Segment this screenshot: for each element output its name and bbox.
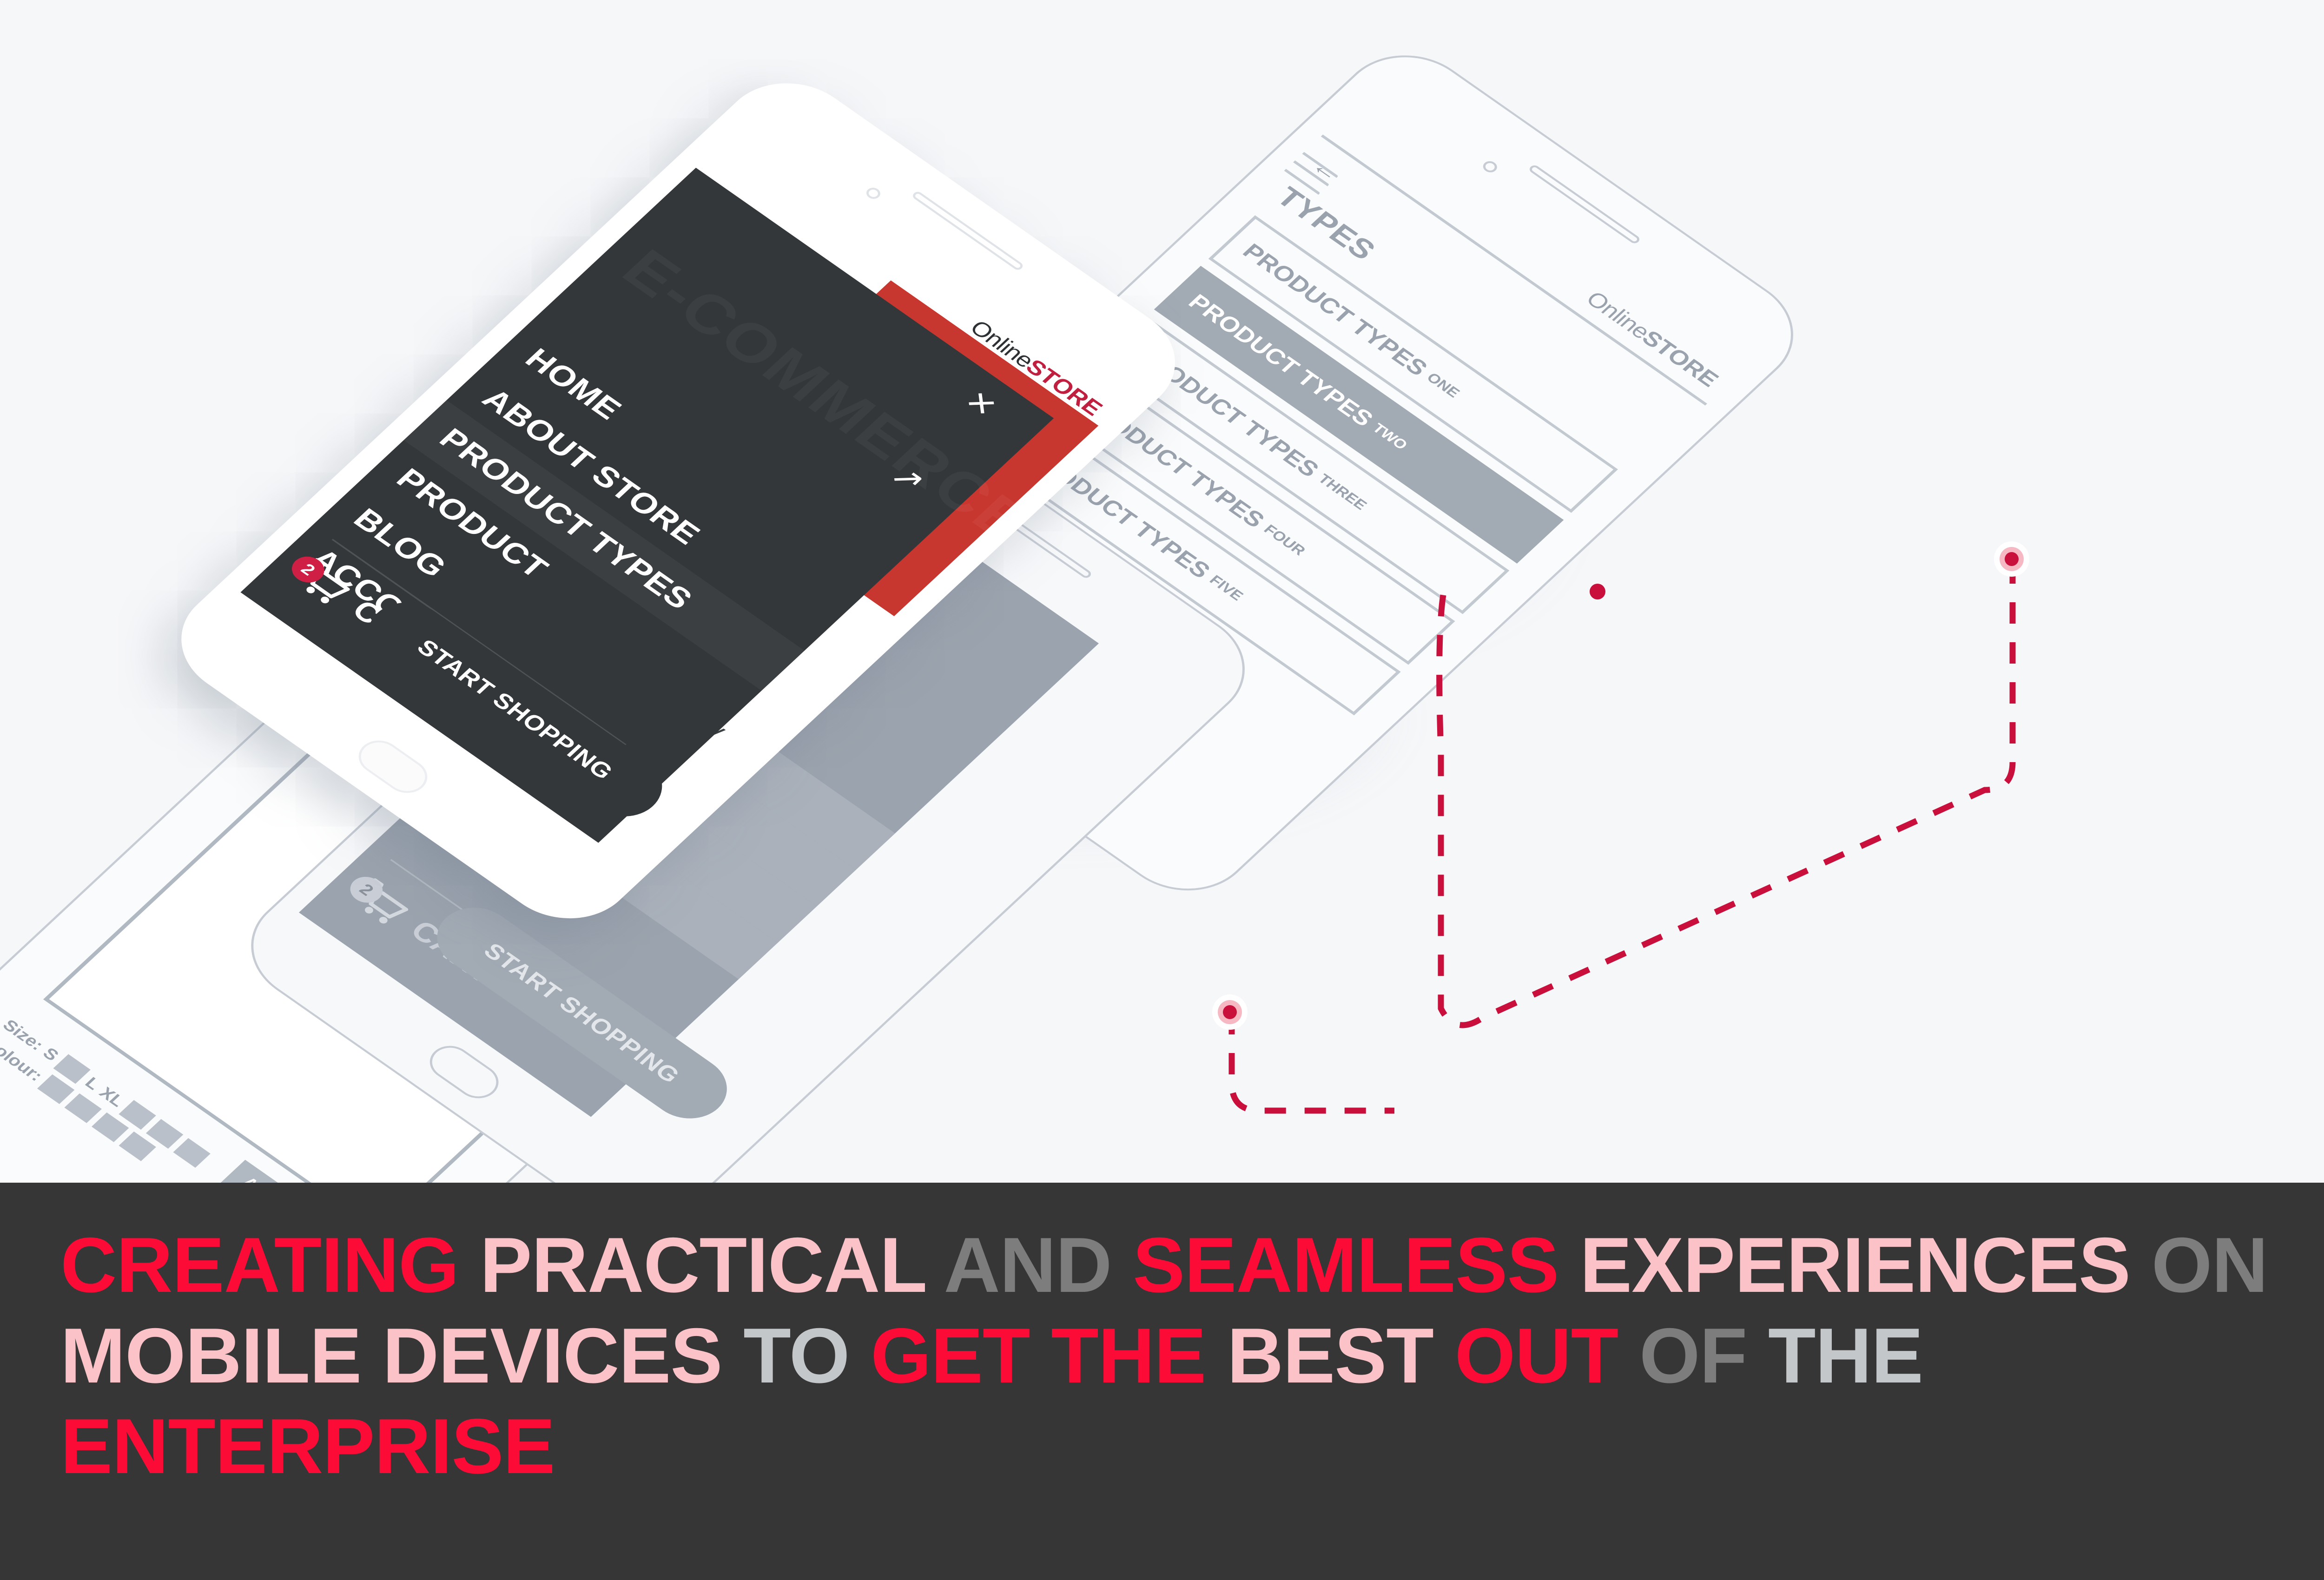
size-option-l[interactable]: L <box>81 1074 104 1093</box>
tagline-word: ON <box>2152 1221 2268 1309</box>
tagline-word: OUT <box>1455 1312 1618 1399</box>
row-suffix: FIVE <box>1206 572 1247 604</box>
speaker-grill-icon <box>911 190 1025 271</box>
row-suffix: ONE <box>1423 369 1463 401</box>
logo-prefix: Online <box>1581 287 1656 343</box>
front-camera-icon <box>864 185 883 201</box>
store-logo[interactable]: OnlineSTORE <box>1581 287 1724 392</box>
close-icon[interactable]: ✕ <box>959 386 1003 422</box>
tagline-word: THE <box>1768 1312 1923 1399</box>
tagline-word: PRACTICAL <box>480 1221 926 1309</box>
tagline-word: TO <box>743 1312 849 1399</box>
tagline-word: SEAMLESS <box>1133 1221 1558 1309</box>
tagline-word: CREATING <box>60 1221 459 1309</box>
tagline-word: DEVICES <box>383 1312 722 1399</box>
tagline-text: CREATING PRACTICAL AND SEAMLESS EXPERIEN… <box>60 1220 2268 1492</box>
tagline-word: GET <box>871 1312 1030 1399</box>
tagline-word: THE <box>1051 1312 1206 1399</box>
tagline-banner: CREATING PRACTICAL AND SEAMLESS EXPERIEN… <box>0 1183 2324 1580</box>
cart-icon: 2 <box>287 552 362 612</box>
path-endpoint-dot <box>1994 541 2029 577</box>
tagline-word: BEST <box>1227 1312 1433 1399</box>
tagline-word: ENTERPRISE <box>60 1402 555 1490</box>
tagline-word: OF <box>1639 1312 1747 1399</box>
speaker-grill-icon <box>1528 164 1642 245</box>
row-suffix: TWO <box>1369 420 1411 453</box>
tagline-word: EXPERIENCES <box>1580 1221 2130 1309</box>
tagline-word: AND <box>944 1221 1112 1309</box>
size-option-xl[interactable]: XL <box>95 1084 128 1110</box>
logo-bold: STORE <box>1637 326 1724 391</box>
cart-icon: 2 <box>345 872 420 932</box>
row-suffix: THREE <box>1314 471 1370 513</box>
path-start-dot <box>1212 994 1248 1030</box>
scene: OnlineSTORE ← TYPES PRODUCT TYPESONE PRO… <box>0 0 2324 1580</box>
tagline-word: MOBILE <box>60 1312 361 1399</box>
row-suffix: FOUR <box>1260 521 1309 559</box>
size-option-s[interactable]: S <box>39 1044 63 1064</box>
front-camera-icon <box>1480 159 1500 175</box>
